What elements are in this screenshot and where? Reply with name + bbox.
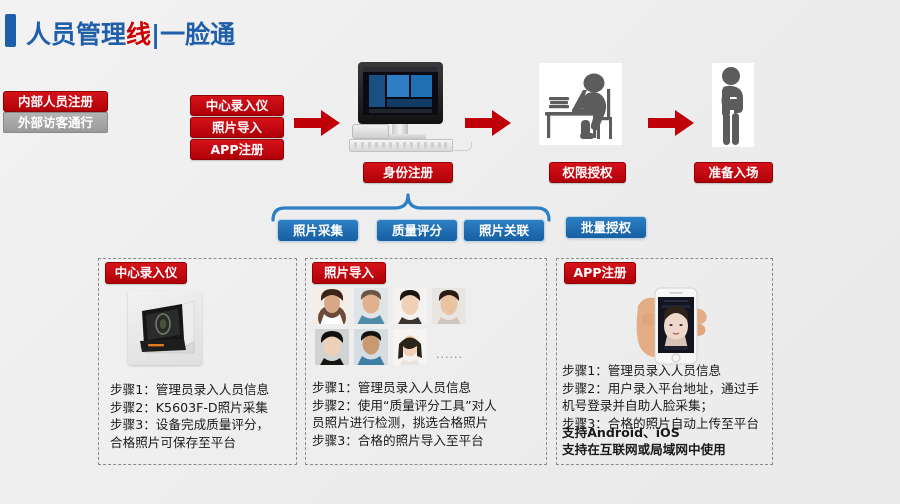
substep-photo-association: 照片关联	[463, 219, 545, 242]
panel-2-title: 照片导入	[312, 262, 386, 284]
stage-label-ready-entry: 准备入场	[694, 162, 773, 183]
panel-1-title: 中心录入仪	[105, 262, 187, 284]
face-thumb	[315, 288, 349, 324]
photo-grid-ellipsis: ......	[436, 348, 463, 361]
panel-1-steps: 步骤1：管理员录入人员信息 步骤2：K5603F-D照片采集 步骤3：设备完成质…	[110, 381, 290, 451]
entry-method-center-terminal: 中心录入仪	[190, 95, 284, 116]
face-thumb	[393, 288, 427, 324]
title-text-main: 人员管理	[26, 20, 126, 49]
face-thumb	[393, 329, 427, 365]
substep-quality-score: 质量评分	[376, 219, 458, 242]
title-text-tail: 一脸通	[160, 20, 235, 49]
blue-brace-connector-icon	[270, 190, 550, 222]
face-thumb	[354, 288, 388, 324]
panel-2-steps: 步骤1：管理员录入人员信息 步骤2：使用“质量评分工具”对人 员照片进行检测，挑…	[312, 379, 544, 449]
panel-3-bold-line-1: 支持Android、iOS	[562, 424, 774, 442]
stage-label-permission-grant: 权限授权	[549, 162, 626, 183]
panel-3-bold-line-2: 支持在互联网或局域网中使用	[562, 441, 774, 459]
standing-person-icon	[712, 63, 754, 147]
label-internal-registration: 内部人员注册	[3, 91, 108, 112]
title-text-highlight: 线	[126, 20, 151, 49]
panel-3-steps: 步骤1：管理员录入人员信息 步骤2：用户录入平台地址，通过手 机号登录并自助人脸…	[562, 362, 774, 432]
face-thumb	[315, 329, 349, 365]
slide-canvas: 人员管理线|一脸通 内部人员注册 外部访客通行 中心录入仪 照片导入 APP注册	[0, 0, 900, 504]
face-thumb	[432, 288, 466, 324]
title-separator: |	[151, 20, 160, 49]
header-accent-bar	[5, 14, 16, 47]
stage-label-identity-registration: 身份注册	[363, 162, 453, 183]
person-at-desk-icon	[539, 63, 622, 145]
hand-holding-phone-icon	[636, 276, 722, 370]
panel-3-title: APP注册	[564, 262, 636, 284]
substep-batch-authorization: 批量授权	[565, 216, 647, 239]
substep-photo-capture: 照片采集	[277, 219, 359, 242]
photo-grid-icon: ......	[314, 288, 534, 366]
label-external-visitor: 外部访客通行	[3, 112, 108, 133]
face-capture-terminal-icon	[128, 291, 202, 365]
face-thumb	[354, 329, 388, 365]
arrow-3-icon	[648, 110, 694, 136]
arrow-2-icon	[465, 110, 511, 136]
page-title: 人员管理线|一脸通	[26, 15, 235, 51]
entry-method-app-register: APP注册	[190, 139, 284, 160]
entry-method-photo-import: 照片导入	[190, 117, 284, 138]
arrow-1-icon	[294, 110, 340, 136]
